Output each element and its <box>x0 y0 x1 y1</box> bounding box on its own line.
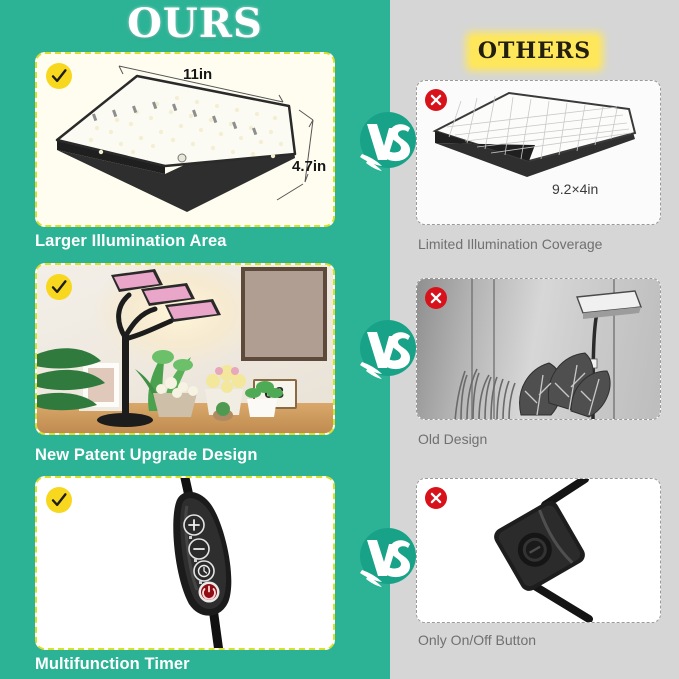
cross-icon <box>429 93 443 107</box>
vs-badge-row1 <box>360 112 416 168</box>
check-badge <box>46 487 72 513</box>
check-badge <box>46 63 72 89</box>
ours-label-row3: Multifunction Timer <box>35 655 190 674</box>
ours-card-row3 <box>35 476 335 650</box>
old-design-photo <box>417 279 660 419</box>
desk-grow-light-photo: 08 <box>37 265 333 433</box>
multifunction-timer-photo <box>37 478 333 648</box>
panel-light-illustration: 11in 4.7in <box>37 54 333 225</box>
ours-label-row2: New Patent Upgrade Design <box>35 446 258 465</box>
comparison-infographic: OURS <box>0 0 679 679</box>
others-label-row2: Old Design <box>418 431 487 447</box>
vs-icon <box>358 526 420 588</box>
cross-icon <box>429 491 443 505</box>
cross-badge <box>425 89 447 111</box>
ours-label-row1: Larger Illumination Area <box>35 232 227 251</box>
check-icon <box>50 278 68 296</box>
cross-badge <box>425 287 447 309</box>
others-header-text: OTHERS <box>471 37 598 66</box>
vs-icon <box>358 318 420 380</box>
vs-icon <box>358 110 420 172</box>
others-card-row2 <box>416 278 661 420</box>
cross-icon <box>429 291 443 305</box>
check-badge <box>46 274 72 300</box>
vs-badge-row3 <box>360 528 416 584</box>
minus-button-icon <box>189 539 209 559</box>
dimension-depth-label: 4.7in <box>292 158 326 175</box>
others-card-row1: 9.2×4in <box>416 80 661 225</box>
ours-column: OURS <box>0 0 390 679</box>
ours-card-row1: 11in 4.7in <box>35 52 335 227</box>
others-label-row1: Limited Illumination Coverage <box>418 236 602 252</box>
ours-header: OURS <box>0 2 390 46</box>
check-icon <box>50 491 68 509</box>
ours-card-row2: 08 <box>35 263 335 435</box>
vs-badge-row2 <box>360 320 416 376</box>
others-label-row3: Only On/Off Button <box>418 632 536 648</box>
others-column: OTHERS <box>390 0 679 679</box>
check-icon <box>50 67 68 85</box>
dimension-size-label: 9.2×4in <box>552 181 598 197</box>
onoff-switch-photo <box>417 479 660 622</box>
others-card-row3 <box>416 478 661 623</box>
timer-button-icon <box>194 561 214 581</box>
dimension-width-label: 11in <box>183 66 212 83</box>
power-button-icon <box>199 582 220 603</box>
others-header: OTHERS <box>390 38 679 64</box>
small-panel-light-illustration: 9.2×4in <box>417 81 660 224</box>
plus-button-icon <box>184 515 204 535</box>
cross-badge <box>425 487 447 509</box>
